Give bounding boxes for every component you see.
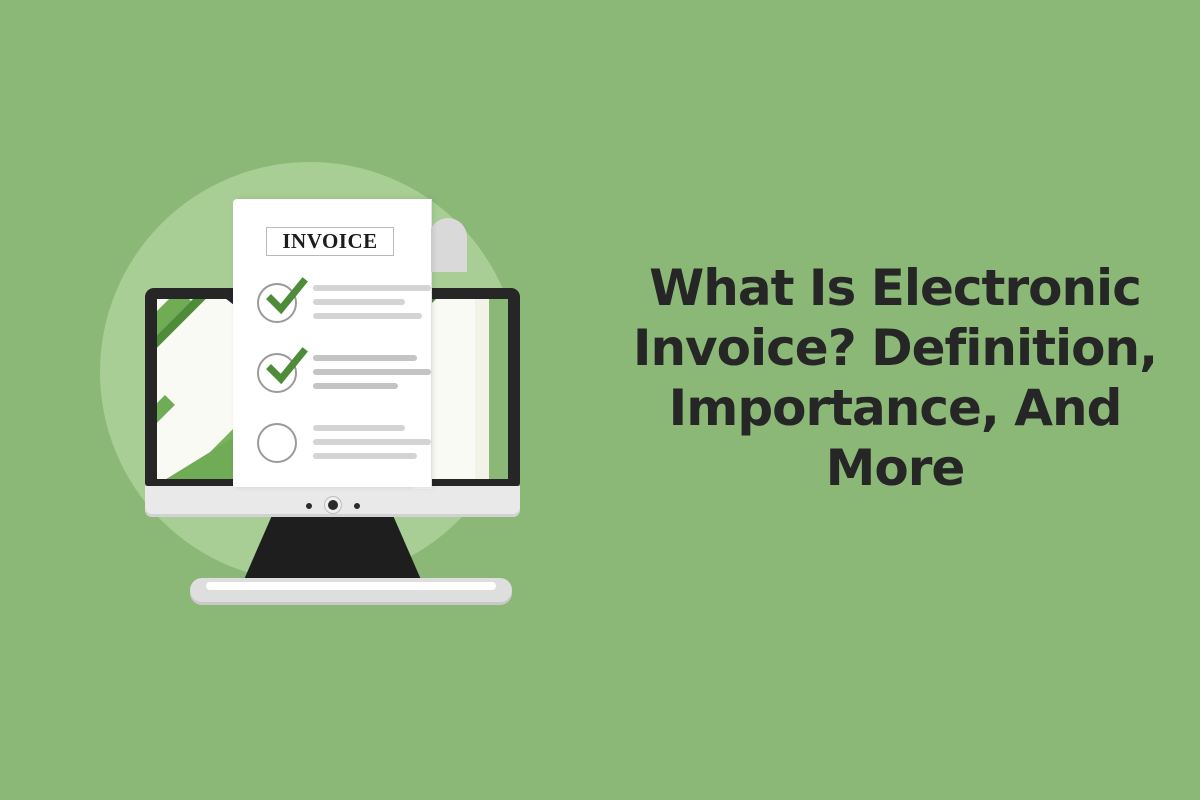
checklist-item-lines [313, 425, 431, 467]
text-line [313, 439, 431, 445]
screen-vertical-stripe-light [475, 299, 489, 479]
screen-vertical-stripe-green [489, 299, 508, 479]
check-icon [263, 275, 309, 321]
indicator-dot-left [306, 503, 312, 509]
text-line [313, 453, 417, 459]
text-line [313, 299, 405, 305]
checklist-item[interactable] [257, 421, 417, 491]
checklist-item-lines [313, 355, 431, 397]
page-title: What Is Electronic Invoice? Definition, … [600, 258, 1190, 498]
title-line-1: What Is Electronic [600, 258, 1190, 318]
checkbox-circle-empty[interactable] [257, 423, 297, 463]
indicator-dot-right [354, 503, 360, 509]
title-line-2: Invoice? Definition, [600, 318, 1190, 378]
text-line [313, 285, 431, 291]
checklist-item[interactable] [257, 351, 417, 421]
text-line [313, 355, 417, 361]
title-line-3: Importance, And [600, 378, 1190, 438]
invoice-title: INVOICE [282, 229, 377, 254]
screen-stripe-green-2 [157, 395, 175, 479]
checklist-item-lines [313, 285, 431, 327]
title-line-4: More [600, 438, 1190, 498]
check-icon [263, 345, 309, 391]
monitor-base-highlight [206, 582, 496, 590]
monitor-base [190, 578, 512, 602]
page-root: INVOICE [0, 0, 1200, 800]
text-line [313, 369, 431, 375]
invoice-document: INVOICE [233, 199, 431, 487]
checklist-item[interactable] [257, 281, 417, 351]
paper-curled-corner [429, 218, 467, 272]
invoice-checklist [257, 281, 417, 491]
text-line [313, 383, 398, 389]
invoice-title-box: INVOICE [266, 227, 394, 256]
text-line [313, 313, 422, 319]
webcam-lens-icon [328, 500, 338, 510]
hero-illustration: INVOICE [0, 0, 600, 800]
text-line [313, 425, 405, 431]
